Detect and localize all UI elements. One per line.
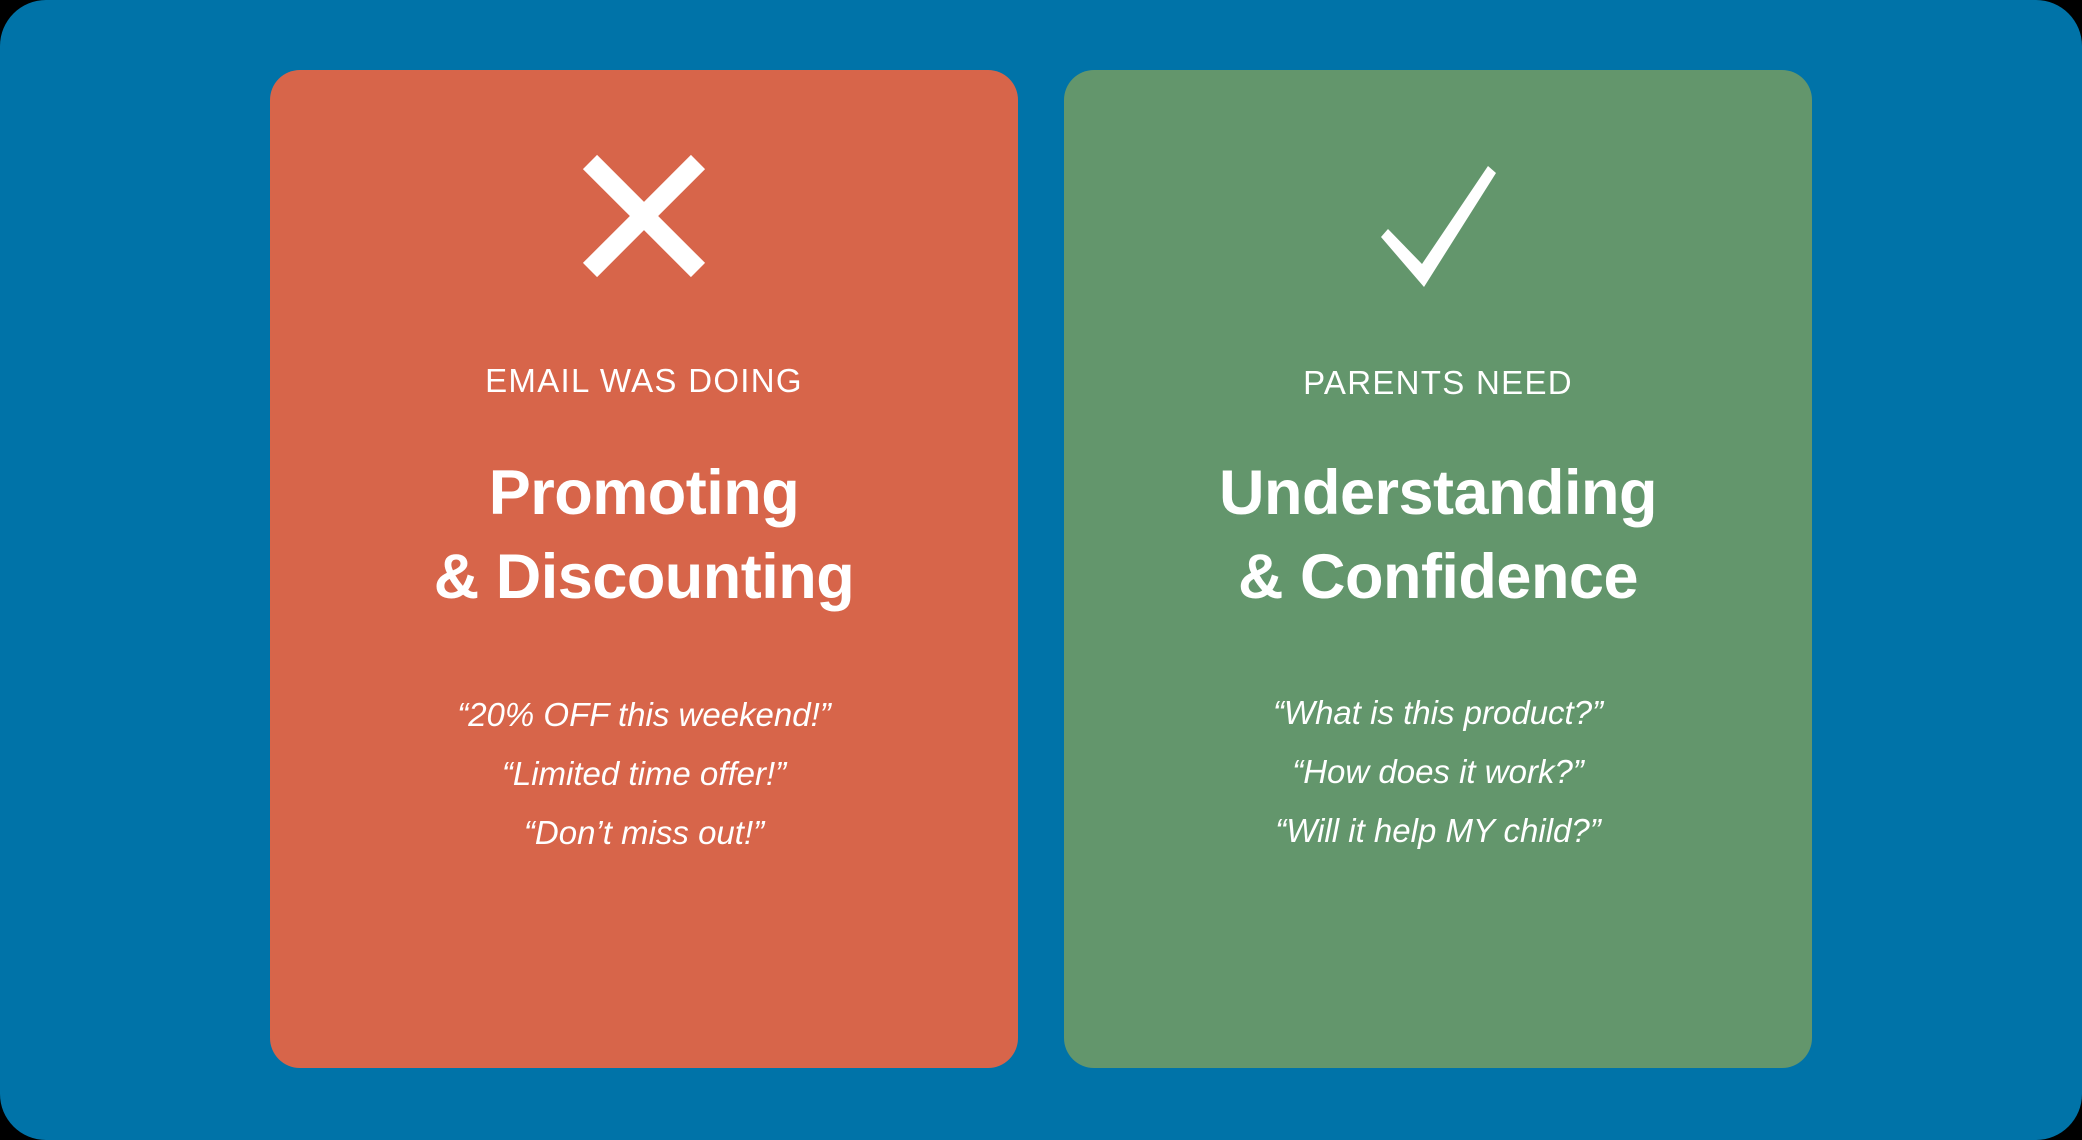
card-headline: Promoting & Discounting <box>270 451 1018 619</box>
card-quote-item: “Limited time offer!” <box>270 744 1018 803</box>
card-quote-item: “Don’t miss out!” <box>270 803 1018 862</box>
card-headline-line: Understanding <box>1064 451 1812 535</box>
card-quote-item: “How does it work?” <box>1064 742 1812 801</box>
card-headline: Understanding & Confidence <box>1064 451 1812 619</box>
card-quote-list: “20% OFF this weekend!” “Limited time of… <box>270 685 1018 862</box>
card-quote-item: “20% OFF this weekend!” <box>270 685 1018 744</box>
card-quote-item: “What is this product?” <box>1064 683 1812 742</box>
slide-canvas: EMAIL WAS DOING Promoting & Discounting … <box>0 0 2082 1140</box>
card-email-was-doing: EMAIL WAS DOING Promoting & Discounting … <box>270 70 1018 1068</box>
card-icon-slot <box>270 154 1018 278</box>
card-eyebrow-label: EMAIL WAS DOING <box>270 364 1018 397</box>
card-headline-line: Promoting <box>270 451 1018 535</box>
comparison-card-row: EMAIL WAS DOING Promoting & Discounting … <box>0 0 2082 1140</box>
card-headline-line: & Confidence <box>1064 535 1812 619</box>
card-quote-list: “What is this product?” “How does it wor… <box>1064 683 1812 860</box>
card-quote-item: “Will it help MY child?” <box>1064 801 1812 860</box>
card-icon-slot <box>1064 158 1812 294</box>
card-headline-line: & Discounting <box>270 535 1018 619</box>
card-parents-need: PARENTS NEED Understanding & Confidence … <box>1064 70 1812 1068</box>
card-eyebrow-label: PARENTS NEED <box>1064 366 1812 399</box>
x-mark-icon <box>582 154 706 278</box>
check-mark-icon <box>1375 158 1501 294</box>
